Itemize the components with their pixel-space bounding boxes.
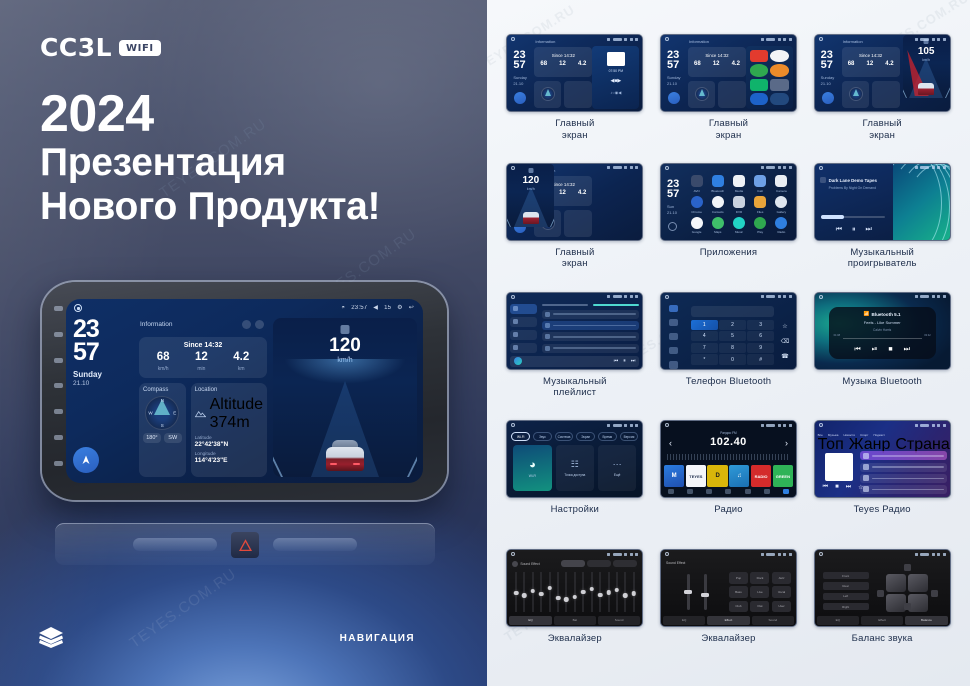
hazard-triangle-icon: [239, 539, 252, 552]
settings-tiles[interactable]: ◕ Wi-Fi ☷ Точка доступа ⋯ Ещё: [513, 445, 636, 491]
screenshot-home-apps[interactable]: 2357 Sunday21.10 Information Since 14:32…: [660, 34, 797, 112]
mini-app-dock[interactable]: [746, 46, 793, 109]
mini-clock: 2357: [513, 50, 525, 70]
location-title: Location: [195, 387, 263, 393]
app-icon-playstore: Play: [751, 216, 770, 235]
mini-compass-card[interactable]: [534, 81, 561, 108]
hero-panel: TEYES.COM.RU TEYES.COM.RU TEYES.COM.RU C…: [0, 0, 487, 686]
eq2-presets[interactable]: PopRockJazz BassLiveVocal ClubFlatUser: [729, 572, 791, 612]
eq-title: Sound Effect: [512, 561, 539, 567]
eq-band: [538, 572, 545, 612]
altitude-label: Altitude: [210, 396, 263, 414]
speed-value: 120: [329, 336, 361, 355]
bluetooth-version: 📶 Bluetooth 5.1: [864, 311, 901, 317]
gallery-item[interactable]: 2357 Sunday21.10 Information Since 14:32…: [501, 163, 649, 290]
pause-icon[interactable]: ⏸: [852, 226, 856, 234]
tab-settings[interactable]: [745, 489, 751, 494]
list-item: [860, 474, 947, 483]
mini-speed-value: 120: [522, 175, 539, 186]
preset-station: RADIO: [751, 465, 771, 487]
next-icon[interactable]: ⏭: [866, 226, 872, 234]
clock-minutes: 57: [73, 341, 133, 364]
volume-down-button[interactable]: [54, 435, 63, 440]
tab-balance[interactable]: Bal: [554, 616, 596, 625]
back-button[interactable]: [54, 409, 63, 414]
latitude-value: 22°42'38"N: [195, 441, 263, 448]
gallery-item[interactable]: Dark Lane Demo Tapes Problems By Night O…: [808, 163, 956, 290]
eq-band: [580, 572, 587, 612]
gallery-caption: Музыкальныйплейлист: [543, 376, 607, 399]
home-icon: [819, 166, 823, 170]
mini-location-card[interactable]: [872, 81, 900, 108]
backspace-icon[interactable]: ⌫: [781, 338, 789, 345]
screenshot-home-music[interactable]: 2357 Sunday21.10 Information Since 14:32…: [506, 34, 643, 112]
fader: [704, 574, 707, 610]
next-station-icon[interactable]: ›: [785, 438, 788, 448]
previous-icon[interactable]: ⏮: [823, 484, 828, 491]
tab-effect[interactable]: Effect: [861, 616, 903, 625]
tab-eq[interactable]: EQ: [509, 616, 551, 625]
trip-information-card[interactable]: Since 14:32 68 km/h 12 min: [139, 337, 267, 378]
status-time: 23:57: [351, 305, 367, 311]
mini-speed-value: 105: [918, 46, 935, 57]
dial-key[interactable]: 4: [691, 331, 718, 341]
next-icon[interactable]: ⏭: [846, 484, 851, 491]
previous-icon[interactable]: ⏮: [836, 226, 842, 234]
gallery-item[interactable]: Sound Effect PopRockJazz BassLiveVocal C…: [655, 549, 803, 676]
settings-tile-more[interactable]: ⋯ Ещё: [598, 445, 636, 491]
trip-stat: 68 km/h: [157, 352, 170, 372]
screenshot-teyes-radio[interactable]: ВсеМузыкаНовостиСпортПодкаст ТопЖанрСтра…: [814, 420, 951, 498]
app-icon-media: Media: [729, 175, 748, 194]
stop-icon[interactable]: ■: [888, 346, 892, 354]
playlist-sidebar[interactable]: [507, 301, 540, 355]
preset-pad: User: [772, 601, 791, 613]
air-vent-right: [273, 538, 357, 551]
tab-eq[interactable]: [725, 489, 731, 494]
tab-radio[interactable]: [668, 489, 674, 494]
volume-up-button[interactable]: [54, 461, 63, 466]
home-icon: [511, 423, 515, 427]
gallery-caption: Teyes Радио: [854, 504, 911, 516]
wifi-icon: ◕: [529, 459, 536, 471]
power-button[interactable]: [54, 358, 63, 363]
trip-stat: 12 min: [195, 352, 208, 372]
screenshot-gallery: TEYES.COM.RU TEYES.COM.RU TEYES.COM.RU T…: [487, 0, 970, 686]
preset-station: D: [707, 465, 727, 487]
head-unit-bezel: ◓ 23:57 ◀ 15 ⚙ ↩ 23 57 Sunday: [42, 282, 447, 500]
back-icon[interactable]: ↩: [409, 304, 414, 311]
compass-title: Compass: [143, 387, 182, 393]
gallery-item[interactable]: 2357 Sunday21.10 Information Since 14:32…: [501, 34, 649, 161]
tab-eq[interactable]: EQ: [663, 616, 705, 625]
status-bar: ◓ 23:57 ◀ 15 ⚙ ↩: [66, 299, 423, 316]
side-button[interactable]: [54, 306, 63, 311]
preset-front: Front: [823, 572, 869, 579]
contacts-icon[interactable]: [669, 319, 678, 326]
stop-icon[interactable]: ■: [835, 484, 839, 491]
gallery-caption: Главныйэкран: [863, 118, 902, 141]
app-icon-dvr: DVR: [729, 195, 748, 214]
brand-logo: CC3L WIFI: [40, 33, 161, 62]
app-icon-radio: Radio: [772, 216, 791, 235]
dial-key[interactable]: 5: [719, 331, 746, 341]
track-artist: Problems By Night On Demand: [829, 186, 876, 190]
mini-info-card[interactable]: Since 14:32 68124.2: [534, 47, 592, 77]
home-icon: [665, 423, 669, 427]
tab-active[interactable]: [783, 489, 789, 494]
app-icon-camera: Camera: [772, 175, 791, 194]
settings-tab[interactable]: Звук: [533, 432, 552, 441]
compass-rose: N S W E: [145, 396, 179, 430]
mini-date: Sunday21.10: [821, 75, 835, 87]
side-button[interactable]: [54, 332, 63, 337]
gallery-caption: Главныйэкран: [709, 118, 748, 141]
compass-card[interactable]: Compass N S W E 180°: [139, 383, 186, 478]
console-bar: [55, 523, 435, 565]
clock-day: Sunday: [73, 370, 133, 379]
balance-presets[interactable]: FrontRear LeftRight: [823, 572, 869, 610]
eq-band: [529, 572, 536, 612]
hotspot-icon: ☷: [571, 459, 579, 470]
list-item: [542, 332, 639, 341]
head-unit-screen[interactable]: ◓ 23:57 ◀ 15 ⚙ ↩ 23 57 Sunday: [66, 299, 423, 483]
back-icon[interactable]: [668, 222, 677, 231]
list-item: [860, 485, 947, 494]
compass-s: S: [161, 423, 164, 428]
app-icon-musicplayer: Music: [729, 216, 748, 235]
balance-up-button[interactable]: [904, 564, 911, 571]
settings-icon[interactable]: [242, 320, 251, 329]
home-icon: [665, 552, 669, 556]
gear-icon[interactable]: ⚙: [397, 304, 403, 311]
stat-value: 12: [195, 352, 208, 364]
bt-total: 03:42: [924, 334, 931, 337]
screenshot-equalizer2[interactable]: Sound Effect PopRockJazz BassLiveVocal C…: [660, 549, 797, 627]
eq-band: [554, 572, 561, 612]
gallery-caption: Настройки: [551, 504, 599, 516]
screenshot-bt-music[interactable]: 📶 Bluetooth 5.1 Feels - Like Summer Calv…: [814, 292, 951, 370]
sidebar-item-artists: [510, 317, 537, 327]
hero-year: 2024: [40, 88, 380, 141]
eq-band: [596, 572, 603, 612]
eq2-faders[interactable]: [675, 574, 719, 610]
settings-tile-wifi[interactable]: ◕ Wi-Fi: [513, 445, 551, 491]
playback-controls[interactable]: ⏮ ⏸ ⏭: [815, 226, 893, 234]
mini-driving-view[interactable]: 120 km/h: [507, 164, 554, 227]
stat-unit: km/h: [157, 366, 170, 372]
gallery-item[interactable]: 2357 Sunday21.10 Information Since 14:32…: [808, 34, 956, 161]
mini-location-card[interactable]: [718, 81, 746, 108]
sidebar-item-folders: [510, 343, 537, 353]
list-item: [542, 321, 639, 330]
mini-driving-view[interactable]: 105 km/h: [903, 35, 950, 98]
gallery-item[interactable]: 📶 Bluetooth 5.1 Feels - Like Summer Calv…: [808, 292, 956, 419]
hazard-lights-button[interactable]: [231, 532, 259, 558]
tab-search[interactable]: [687, 489, 693, 494]
car-graphic: [326, 437, 364, 471]
brand-wifi-badge: WIFI: [119, 40, 161, 56]
preset-pad: Pop: [729, 572, 748, 584]
seat-front-left: [886, 574, 906, 592]
dialpad-icon[interactable]: [669, 305, 678, 312]
phone-actions[interactable]: ☆ ⌫ ☎: [777, 319, 793, 364]
next-icon[interactable]: ⏭: [904, 346, 910, 354]
gallery-caption: Телефон Bluetooth: [686, 376, 772, 388]
home-icon: [511, 37, 515, 41]
playlist-tabs[interactable]: [542, 302, 639, 309]
bt-music-panel: 📶 Bluetooth 5.1 Feels - Like Summer Calv…: [829, 307, 936, 359]
hero-line2: Нового Продукта!: [40, 185, 380, 229]
eq-sliders[interactable]: [512, 572, 637, 612]
gallery-item[interactable]: 1 2 3 4 5 6 7 8 9 * 0 # ☆: [655, 292, 803, 419]
tab-power[interactable]: [764, 489, 770, 494]
app-icon-filemanager: Files: [751, 195, 770, 214]
dial-key[interactable]: 3: [747, 320, 774, 330]
screenshot-home-road[interactable]: 2357 Sunday21.10 Information Since 14:32…: [814, 34, 951, 112]
status-volume: 15: [384, 305, 391, 311]
preset-pad: Live: [750, 586, 769, 598]
settings-tab[interactable]: Wi-Fi: [511, 432, 530, 441]
gallery-item[interactable]: ⏮ ⏸ ⏭ Музыкальныйплейлист: [501, 292, 649, 419]
edit-icon[interactable]: [255, 320, 264, 329]
mini-location-card[interactable]: [564, 81, 592, 108]
gallery-caption: Эквалайзер: [701, 633, 755, 645]
pause-icon[interactable]: ⏸: [623, 358, 626, 364]
compass-e: E: [173, 410, 176, 415]
eq2-title: Sound Effect: [666, 561, 685, 565]
phone-sidebar[interactable]: [661, 301, 687, 369]
home-icon: [819, 552, 823, 556]
bt-playback-controls[interactable]: ⏮ ⏯ ■ ⏭: [854, 346, 909, 354]
app-grid[interactable]: AVN Bluetooth Media Calc Camera Chrome C…: [687, 175, 791, 235]
settings-tab[interactable]: Версия: [620, 432, 639, 441]
dial-key[interactable]: 2: [719, 320, 746, 330]
trip-since: Since 14:32: [144, 342, 262, 349]
tab-balance[interactable]: Balance: [905, 616, 947, 625]
tab-sound[interactable]: Sound: [752, 616, 794, 625]
seat-front-right: [908, 574, 928, 592]
favorite-icon[interactable]: ☆: [782, 323, 787, 330]
screenshot-bt-phone[interactable]: 1 2 3 4 5 6 7 8 9 * 0 # ☆: [660, 292, 797, 370]
tab-sound[interactable]: Sound: [598, 616, 640, 625]
album-badge: [820, 177, 826, 183]
dial-key[interactable]: 9: [747, 343, 774, 353]
speed-limit-icon: [341, 325, 350, 334]
preset-pad: Vocal: [772, 586, 791, 598]
eq-band: [571, 572, 578, 612]
eq-band: [605, 572, 612, 612]
gallery-item[interactable]: 2357 Sunday21.10 Information Since 14:32…: [655, 34, 803, 161]
screenshot-settings[interactable]: Wi-Fi Звук Система Экран Время Версия ◕ …: [506, 420, 643, 498]
station-list[interactable]: [860, 451, 947, 492]
preset-pad: Flat: [750, 601, 769, 613]
radio-tabbar[interactable]: [661, 487, 796, 496]
app-icon-chrome: Chrome: [687, 195, 706, 214]
now-playing-bar[interactable]: ⏮ ⏸ ⏭: [510, 356, 639, 367]
settings-tab[interactable]: Система: [555, 432, 574, 441]
gallery-caption: Главныйэкран: [555, 118, 594, 141]
eq-presets[interactable]: [561, 560, 637, 567]
dial-key[interactable]: 0: [719, 354, 746, 364]
wifi-icon: ◓: [341, 305, 345, 311]
album-art: [514, 357, 522, 365]
gallery-item[interactable]: ВсеМузыкаНовостиСпортПодкаст ТопЖанрСтра…: [808, 420, 956, 547]
list-item: [860, 451, 947, 460]
eq-tabbar[interactable]: EQ Bal Sound: [509, 616, 640, 625]
navigation-button[interactable]: [73, 447, 99, 473]
screenshot-balance[interactable]: FrontRear LeftRight EQ Effect Balance: [814, 549, 951, 627]
hero-title: 2024 Презентация Нового Продукта!: [40, 88, 380, 228]
screenshot-equalizer[interactable]: Sound Effect: [506, 549, 643, 627]
home-icon[interactable]: [74, 304, 82, 312]
app-icon-contacts: Contacts: [708, 195, 727, 214]
tab-list[interactable]: [706, 489, 712, 494]
bluetooth-icon: 📶: [864, 311, 870, 317]
fader: [687, 574, 690, 610]
eq-band: [613, 572, 620, 612]
mini-date: Sunday21.10: [513, 75, 527, 87]
previous-icon[interactable]: ⏮: [854, 346, 860, 354]
home-icon: [511, 295, 515, 299]
screenshot-home-road2[interactable]: 2357 Sunday21.10 Information Since 14:32…: [506, 163, 643, 241]
eq-band: [622, 572, 629, 612]
gallery-item[interactable]: Рандио FM ‹ 102.40 › M TEYES D ♫ RADIO G…: [655, 420, 803, 547]
air-vent-left: [133, 538, 217, 551]
radio-presets[interactable]: M TEYES D ♫ RADIO GREEN: [664, 465, 793, 487]
frequency-scale[interactable]: [667, 454, 790, 460]
mini-clock: 2357: [667, 50, 679, 70]
preset-pad: Jazz: [772, 572, 791, 584]
app-icon-avn: AVN: [687, 175, 706, 194]
widgets-column: Information Since 14:32 68: [139, 318, 267, 477]
mini-compass-card[interactable]: [842, 81, 869, 108]
call-history-icon[interactable]: [669, 347, 678, 354]
dial-key[interactable]: 1: [691, 320, 718, 330]
compass-direction: SW: [164, 433, 182, 443]
teyes-playback-controls[interactable]: ⏮ ■ ⏭ ☆: [823, 484, 864, 491]
location-card[interactable]: Location Altitude 374m: [191, 383, 267, 478]
settings-icon[interactable]: [669, 361, 678, 368]
seat-rear-left: [886, 594, 906, 612]
home-button[interactable]: [54, 383, 63, 388]
screenshot-music-player[interactable]: Dark Lane Demo Tapes Problems By Night O…: [814, 163, 951, 241]
dial-key[interactable]: #: [747, 354, 774, 364]
balance-down-button[interactable]: [904, 603, 911, 610]
app-icon-bluetooth: Bluetooth: [708, 175, 727, 194]
eq-band: [521, 572, 528, 612]
preset-pad: Bass: [729, 586, 748, 598]
longitude-value: 114°4'23"E: [195, 457, 263, 464]
settings-tab[interactable]: Время: [598, 432, 617, 441]
hero-line1: Презентация: [40, 141, 380, 185]
balance-tabbar[interactable]: EQ Effect Balance: [817, 616, 948, 625]
gallery-item[interactable]: Wi-Fi Звук Система Экран Время Версия ◕ …: [501, 420, 649, 547]
gallery-caption: Приложения: [700, 247, 758, 259]
mini-clock: 2357: [821, 50, 833, 70]
app-icon-gallery: Gallery: [772, 195, 791, 214]
stat-value: 4.2: [233, 352, 249, 364]
navigation-button[interactable]: [668, 92, 680, 104]
settings-tab[interactable]: Экран: [576, 432, 595, 441]
footer-navigation-label: НАВИГАЦИЯ: [340, 633, 415, 644]
mini-date: Sun21.10: [667, 204, 677, 216]
station-cover: [825, 453, 853, 481]
driving-view[interactable]: 120 km/h: [273, 318, 417, 477]
radio-band: Рандио FM: [661, 431, 796, 435]
settings-tabs[interactable]: Wi-Fi Звук Система Экран Время Версия: [511, 432, 638, 441]
radio-frequency: 102.40: [661, 436, 796, 448]
gallery-item[interactable]: FrontRear LeftRight EQ Effect Balance: [808, 549, 956, 676]
sidebar-item-albums: [510, 330, 537, 340]
mini-compass-card[interactable]: [688, 81, 715, 108]
tab-effect[interactable]: Effect: [707, 616, 749, 625]
bt-progress-bar[interactable]: 01:08 03:42: [843, 338, 922, 339]
dial-key[interactable]: 8: [719, 343, 746, 353]
eq2-tabbar[interactable]: EQ Effect Sound: [663, 616, 794, 625]
balance-left-button[interactable]: [877, 590, 884, 597]
screenshot-radio[interactable]: Рандио FM ‹ 102.40 › M TEYES D ♫ RADIO G…: [660, 420, 797, 498]
gallery-caption: Эквалайзер: [548, 633, 602, 645]
tab-eq[interactable]: EQ: [817, 616, 859, 625]
phone-number-field[interactable]: [691, 306, 774, 317]
previous-icon[interactable]: ⏮: [614, 358, 619, 364]
progress-bar[interactable]: [821, 216, 885, 218]
navigation-button[interactable]: [822, 92, 834, 104]
balance-right-button[interactable]: [931, 590, 938, 597]
dial-key[interactable]: *: [691, 354, 718, 364]
stat-unit: km: [233, 366, 249, 372]
playlist-list[interactable]: [542, 310, 639, 355]
dial-pad[interactable]: 1 2 3 4 5 6 7 8 9 * 0 #: [691, 320, 774, 365]
altitude-value: 374m: [210, 414, 263, 432]
more-icon: ⋯: [613, 459, 622, 470]
navigation-arrow-icon: [80, 454, 92, 466]
screenshot-playlist[interactable]: ⏮ ⏸ ⏭: [506, 292, 643, 370]
preset-pad: Rock: [750, 572, 769, 584]
settings-tile-hotspot[interactable]: ☷ Точка доступа: [556, 445, 594, 491]
gallery-caption: Музыкальныйпроигрыватель: [848, 247, 917, 270]
app-icon-calculator: Calc: [751, 175, 770, 194]
list-item: [542, 344, 639, 353]
information-header: Information: [139, 318, 267, 332]
search-icon[interactable]: [669, 333, 678, 340]
presentation-page: TEYES.COM.RU TEYES.COM.RU TEYES.COM.RU C…: [0, 0, 970, 686]
sidebar-item-tracks: [510, 304, 537, 314]
teyes-radio-filters[interactable]: ТопЖанрСтранаИзбранное: [818, 441, 947, 448]
trip-stats: 68 km/h 12 min 4.2 km: [144, 352, 262, 372]
dial-key[interactable]: 6: [747, 331, 774, 341]
mini-music-widget[interactable]: 07:50 PM ◀■▶ ♪○◉◀: [592, 46, 639, 109]
screenshot-apps[interactable]: 2357 Sun21.10 AVN Bluetooth Media Calc C…: [660, 163, 797, 241]
play-pause-icon[interactable]: ⏯: [872, 346, 878, 354]
mini-location-card[interactable]: [564, 210, 592, 237]
bt-elapsed: 01:08: [834, 334, 841, 337]
next-icon[interactable]: ⏭: [631, 358, 636, 364]
gallery-item[interactable]: 2357 Sun21.10 AVN Bluetooth Media Calc C…: [655, 163, 803, 290]
mini-info-card[interactable]: Since 14:3268124.2: [688, 47, 746, 77]
call-icon[interactable]: ☎: [781, 353, 788, 360]
gallery-item[interactable]: Sound Effect: [501, 549, 649, 676]
information-title: Information: [140, 321, 173, 328]
head-unit-side-buttons[interactable]: [50, 306, 66, 466]
dial-key[interactable]: 7: [691, 343, 718, 353]
mini-info-card[interactable]: Since 14:3268124.2: [842, 47, 900, 77]
eq-band: [630, 572, 637, 612]
app-icon-google: Google: [687, 216, 706, 235]
compass-heading: 180°: [143, 433, 161, 443]
app-icon-maps: Maps: [708, 216, 727, 235]
